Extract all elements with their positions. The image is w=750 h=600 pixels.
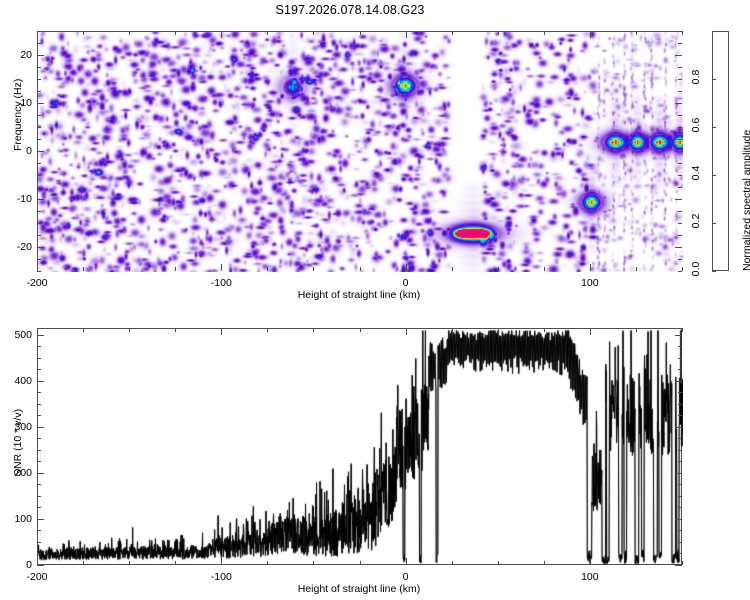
spectrogram-x-minor-tick-top [83,31,84,35]
snr-y-minor-tick-right [678,415,682,416]
spectrogram-x-minor-tick-top [313,31,314,35]
colorbar [712,31,729,271]
spectrogram-y-tick [37,55,44,56]
snr-x-tick [406,558,407,565]
spectrogram-y-minor-tick-right [678,163,682,164]
spectrogram-x-minor-tick-top [682,31,683,35]
snr-y-minor-tick [37,392,41,393]
snr-x-minor-tick-top [544,328,545,332]
spectrogram-x-axis-title: Height of straight line (km) [298,289,421,301]
spectrogram-x-minor-tick-top [498,31,499,35]
snr-x-minor-tick-top [267,328,268,332]
snr-y-minor-tick [37,542,41,543]
snr-y-minor-tick [37,450,41,451]
spectrogram-x-tick-label: 0 [403,277,409,289]
snr-y-minor-tick-right [678,484,682,485]
snr-x-minor-tick [682,561,683,565]
snr-x-minor-tick [267,561,268,565]
snr-y-tick [37,473,44,474]
colorbar-tick-label: 0.0 [690,259,702,279]
spectrogram-y-minor-tick [37,127,41,128]
spectrogram-canvas [38,32,683,272]
spectrogram-axes [37,31,682,271]
spectrogram-y-minor-tick-right [678,79,682,80]
spectrogram-y-axis-title: Frequency (Hz) [12,79,24,151]
colorbar-tick [712,271,716,272]
snr-y-tick-label: 100 [3,513,32,525]
snr-y-minor-tick-right [678,530,682,531]
spectrogram-y-tick-right [675,103,682,104]
snr-y-minor-tick-right [678,496,682,497]
snr-canvas [38,329,683,566]
snr-y-tick-right [675,427,682,428]
spectrogram-x-tick-top [37,31,38,38]
snr-y-tick-label: 0 [3,559,32,571]
snr-y-minor-tick [37,496,41,497]
spectrogram-x-tick [221,264,222,271]
figure-title: S197.2026.078.14.08.G23 [0,3,700,17]
spectrogram-y-minor-tick-right [678,91,682,92]
snr-x-tick-label: -200 [26,571,47,583]
spectrogram-x-tick-label: -200 [26,277,47,289]
spectrogram-y-minor-tick-right [678,31,682,32]
snr-y-tick [37,565,44,566]
snr-y-tick-right [675,381,682,382]
spectrogram-y-minor-tick [37,271,41,272]
spectrogram-y-minor-tick [37,43,41,44]
spectrogram-y-minor-tick [37,91,41,92]
snr-x-minor-tick [175,561,176,565]
snr-y-minor-tick [37,346,41,347]
spectrogram-y-minor-tick-right [678,223,682,224]
snr-axes [37,328,682,565]
spectrogram-y-minor-tick [37,139,41,140]
spectrogram-y-minor-tick-right [678,139,682,140]
snr-y-minor-tick [37,461,41,462]
spectrogram-y-tick-label: 20 [3,49,32,61]
spectrogram-x-minor-tick [544,267,545,271]
snr-x-minor-tick [498,561,499,565]
snr-x-axis-title: Height of straight line (km) [298,583,421,595]
snr-y-tick-right [675,473,682,474]
snr-y-tick-right [675,565,682,566]
colorbar-tick-label: 0.2 [690,211,702,231]
snr-x-tick [221,558,222,565]
spectrogram-y-tick [37,199,44,200]
spectrogram-x-minor-tick [83,267,84,271]
spectrogram-x-minor-tick-top [129,31,130,35]
snr-x-minor-tick-top [360,328,361,332]
snr-y-minor-tick-right [678,461,682,462]
colorbar-tick [712,79,716,80]
figure-root: S197.2026.078.14.08.G23 -200-1000100-20-… [0,0,750,600]
snr-y-tick-label: 500 [3,329,32,341]
spectrogram-y-minor-tick [37,175,41,176]
snr-y-minor-tick [37,369,41,370]
spectrogram-y-tick-right [675,55,682,56]
spectrogram-x-minor-tick [636,267,637,271]
spectrogram-y-minor-tick-right [678,43,682,44]
spectrogram-x-minor-tick-top [175,31,176,35]
spectrogram-x-minor-tick [313,267,314,271]
colorbar-tick [712,223,716,224]
snr-x-minor-tick [636,561,637,565]
colorbar-tick [712,127,716,128]
snr-x-minor-tick-top [682,328,683,332]
spectrogram-x-minor-tick [452,267,453,271]
spectrogram-x-minor-tick [682,267,683,271]
spectrogram-y-minor-tick [37,223,41,224]
spectrogram-y-tick [37,247,44,248]
snr-y-axis-title: SNR (10 * v/v) [12,409,24,476]
spectrogram-y-minor-tick [37,115,41,116]
snr-x-tick [37,558,38,565]
spectrogram-y-minor-tick-right [678,67,682,68]
snr-x-tick-label: 100 [581,571,599,583]
snr-y-tick [37,427,44,428]
snr-x-minor-tick [313,561,314,565]
snr-y-tick [37,335,44,336]
spectrogram-x-tick [406,264,407,271]
spectrogram-y-minor-tick [37,79,41,80]
snr-x-tick-top [590,328,591,335]
spectrogram-y-tick-label: -10 [3,193,32,205]
snr-y-minor-tick [37,415,41,416]
snr-x-minor-tick-top [129,328,130,332]
snr-y-minor-tick [37,553,41,554]
spectrogram-y-tick-right [675,199,682,200]
spectrogram-x-minor-tick-top [544,31,545,35]
snr-y-minor-tick-right [678,450,682,451]
snr-x-minor-tick-top [83,328,84,332]
colorbar-tick [712,175,716,176]
snr-x-tick-top [406,328,407,335]
snr-x-minor-tick [360,561,361,565]
spectrogram-y-minor-tick-right [678,187,682,188]
spectrogram-x-minor-tick [175,267,176,271]
snr-x-tick [590,558,591,565]
snr-y-minor-tick [37,507,41,508]
spectrogram-y-minor-tick-right [678,271,682,272]
colorbar-gradient [712,31,729,271]
spectrogram-y-minor-tick-right [678,127,682,128]
snr-y-minor-tick-right [678,358,682,359]
colorbar-tick-label: 0.6 [690,115,702,135]
spectrogram-y-minor-tick-right [678,115,682,116]
snr-x-minor-tick-top [498,328,499,332]
spectrogram-x-tick-top [406,31,407,38]
spectrogram-x-minor-tick-top [267,31,268,35]
spectrogram-y-tick-right [675,247,682,248]
spectrogram-y-tick [37,151,44,152]
spectrogram-x-tick-top [221,31,222,38]
spectrogram-y-minor-tick [37,211,41,212]
spectrogram-y-tick [37,103,44,104]
snr-x-minor-tick-top [175,328,176,332]
snr-y-tick [37,381,44,382]
snr-x-minor-tick [544,561,545,565]
snr-y-minor-tick [37,358,41,359]
snr-x-tick-label: 0 [403,571,409,583]
snr-x-minor-tick [83,561,84,565]
snr-x-tick-label: -100 [211,571,232,583]
snr-y-minor-tick-right [678,507,682,508]
spectrogram-y-minor-tick [37,67,41,68]
snr-y-tick [37,519,44,520]
snr-x-minor-tick-top [452,328,453,332]
snr-y-tick-right [675,519,682,520]
spectrogram-y-tick-label: -20 [3,241,32,253]
snr-x-minor-tick [452,561,453,565]
colorbar-tick-label: 0.4 [690,163,702,183]
spectrogram-x-minor-tick-top [636,31,637,35]
snr-y-minor-tick [37,438,41,439]
spectrogram-x-tick [590,264,591,271]
spectrogram-y-tick-right [675,151,682,152]
spectrogram-x-minor-tick-top [360,31,361,35]
snr-y-minor-tick-right [678,404,682,405]
spectrogram-y-minor-tick-right [678,235,682,236]
spectrogram-y-minor-tick [37,163,41,164]
snr-y-minor-tick-right [678,438,682,439]
spectrogram-x-tick-label: 100 [581,277,599,289]
snr-x-minor-tick-top [313,328,314,332]
colorbar-tick-label: 0.8 [690,67,702,87]
snr-y-minor-tick [37,484,41,485]
spectrogram-x-tick-label: -100 [211,277,232,289]
spectrogram-y-minor-tick [37,235,41,236]
snr-y-minor-tick [37,530,41,531]
spectrogram-x-minor-tick [267,267,268,271]
snr-x-tick-top [221,328,222,335]
spectrogram-x-minor-tick-top [452,31,453,35]
snr-y-minor-tick [37,404,41,405]
snr-y-minor-tick-right [678,542,682,543]
spectrogram-y-minor-tick [37,187,41,188]
spectrogram-y-minor-tick-right [678,175,682,176]
snr-y-tick-right [675,335,682,336]
spectrogram-x-minor-tick [129,267,130,271]
snr-y-minor-tick-right [678,346,682,347]
colorbar-title: Normalized spectral amplitude [741,130,750,271]
snr-y-minor-tick-right [678,369,682,370]
spectrogram-y-minor-tick-right [678,259,682,260]
spectrogram-y-minor-tick-right [678,211,682,212]
spectrogram-x-tick-top [590,31,591,38]
snr-x-minor-tick-top [636,328,637,332]
snr-x-minor-tick [129,561,130,565]
spectrogram-x-minor-tick [498,267,499,271]
snr-y-tick-label: 400 [3,375,32,387]
snr-y-minor-tick-right [678,553,682,554]
spectrogram-x-tick [37,264,38,271]
snr-y-minor-tick-right [678,392,682,393]
spectrogram-x-minor-tick [360,267,361,271]
spectrogram-y-minor-tick [37,259,41,260]
